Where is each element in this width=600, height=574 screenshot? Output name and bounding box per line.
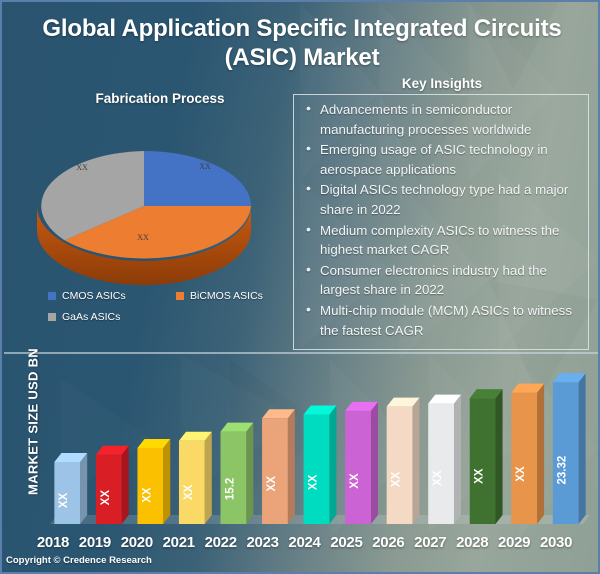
y-axis-label: MARKET SIZE USD BN <box>26 347 41 497</box>
bar-2027: XX <box>428 395 461 524</box>
key-insights-box: Advancements in semiconductor manufactur… <box>293 94 589 350</box>
bar-side <box>163 439 170 524</box>
bar-side <box>80 453 87 524</box>
bar-2026: XX <box>387 398 420 524</box>
x-tick: 2020 <box>116 534 158 551</box>
bar-front <box>304 415 330 524</box>
legend-item-gaas[interactable]: GaAs ASICs <box>48 311 176 323</box>
bar-value-label: 15.2 <box>224 478 236 500</box>
bar-side <box>205 432 212 524</box>
legend-swatch-gaas <box>48 313 56 321</box>
bar-side <box>329 406 336 524</box>
bar-side <box>371 402 378 524</box>
bar-side <box>288 409 295 524</box>
legend-label-cmos: CMOS ASICs <box>62 290 126 302</box>
pie-label-cmos: XX <box>199 162 211 171</box>
x-tick: 2021 <box>158 534 200 551</box>
bar-2020: XX <box>137 439 170 524</box>
legend-swatch-bicmos <box>176 292 184 300</box>
bar-2022: 15.2 <box>221 423 254 524</box>
pie-chart-title: Fabrication Process <box>40 91 280 106</box>
bar-side <box>122 446 129 524</box>
x-tick: 2025 <box>325 534 367 551</box>
bar-2025: XX <box>345 402 378 524</box>
bar-front <box>96 455 122 524</box>
bar-2029: XX <box>511 384 544 524</box>
bar-front <box>428 404 454 524</box>
pie-label-bicmos: XX <box>137 233 149 242</box>
infographic-canvas: Global Application Specific Integrated C… <box>0 0 600 574</box>
bar-side <box>579 373 586 524</box>
x-tick: 2030 <box>535 534 577 551</box>
list-item: Consumer electronics industry had the la… <box>303 261 579 300</box>
bar-plot-area: 23.32XXXXXXXXXXXXXX15.2XXXXXXXX <box>50 358 590 530</box>
x-tick: 2024 <box>284 534 326 551</box>
pie-slice-cmos <box>144 151 251 206</box>
key-insights-list: Advancements in semiconductor manufactur… <box>294 95 588 340</box>
bar-value-label: XX <box>266 476 278 492</box>
bar-value-label: XX <box>58 492 70 508</box>
legend-item-cmos[interactable]: CMOS ASICs <box>48 290 176 302</box>
bar-value-label: XX <box>432 470 444 486</box>
bar-value-label: XX <box>474 468 486 484</box>
bar-value-label: XX <box>349 473 361 489</box>
pie-legend: CMOS ASICs BiCMOS ASICs GaAs ASICs <box>48 290 298 332</box>
bar-front <box>511 393 537 524</box>
key-insights-title: Key Insights <box>292 76 592 91</box>
list-item: Advancements in semiconductor manufactur… <box>303 100 579 139</box>
bar-front <box>387 407 413 524</box>
bar-2018: XX <box>54 453 87 524</box>
bar-value-label: XX <box>100 490 112 506</box>
bar-front <box>137 448 163 524</box>
legend-swatch-cmos <box>48 292 56 300</box>
list-item: Digital ASICs technology type had a majo… <box>303 180 579 219</box>
x-tick: 2022 <box>200 534 242 551</box>
x-tick: 2027 <box>409 534 451 551</box>
list-item: Medium complexity ASICs to witness the h… <box>303 221 579 260</box>
bar-value-label: XX <box>141 487 153 503</box>
bar-2019: XX <box>96 446 129 524</box>
pie-label-gaas: XX <box>76 163 88 172</box>
bar-value-label: XX <box>183 484 195 500</box>
x-axis: 2018 2019 2020 2021 2022 2023 2024 2025 … <box>32 534 577 551</box>
x-tick: 2026 <box>367 534 409 551</box>
bar-series: 23.32XXXXXXXXXXXXXX15.2XXXXXXXX <box>50 358 590 530</box>
x-tick: 2023 <box>242 534 284 551</box>
legend-label-bicmos: BiCMOS ASICs <box>190 290 263 302</box>
fabrication-process-pie-chart: XX XX XX <box>27 122 282 287</box>
bar-2023: XX <box>262 409 295 524</box>
market-size-bar-chart: MARKET SIZE USD BN 23.32XXXXXXXXXXXXXX15… <box>2 354 600 574</box>
list-item: Emerging usage of ASIC technology in aer… <box>303 140 579 179</box>
copyright-notice: Copyright © Credence Research <box>6 555 152 566</box>
bar-side <box>496 389 503 524</box>
bar-value-label: XX <box>515 466 527 482</box>
bar-front <box>179 441 205 524</box>
bar-2021: XX <box>179 432 212 524</box>
x-tick: 2028 <box>451 534 493 551</box>
x-tick: 2029 <box>493 534 535 551</box>
bar-2028: XX <box>470 389 503 524</box>
x-tick: 2018 <box>32 534 74 551</box>
page-title: Global Application Specific Integrated C… <box>32 14 572 72</box>
bar-front <box>553 382 579 524</box>
list-item: Multi-chip module (MCM) ASICs to witness… <box>303 301 579 340</box>
bar-front <box>470 398 496 524</box>
bar-value-label: XX <box>391 471 403 487</box>
bar-2024: XX <box>304 406 337 524</box>
bar-value-label: 23.32 <box>557 456 569 485</box>
legend-label-gaas: GaAs ASICs <box>62 311 120 323</box>
bar-side <box>412 398 419 524</box>
bar-side <box>537 384 544 524</box>
bar-front <box>345 411 371 524</box>
bar-side <box>454 395 461 524</box>
bar-value-label: XX <box>307 474 319 490</box>
legend-item-bicmos[interactable]: BiCMOS ASICs <box>176 290 263 302</box>
bar-2030: 23.32 <box>553 373 586 524</box>
bar-front <box>262 418 288 524</box>
bar-side <box>246 423 253 524</box>
x-tick: 2019 <box>74 534 116 551</box>
